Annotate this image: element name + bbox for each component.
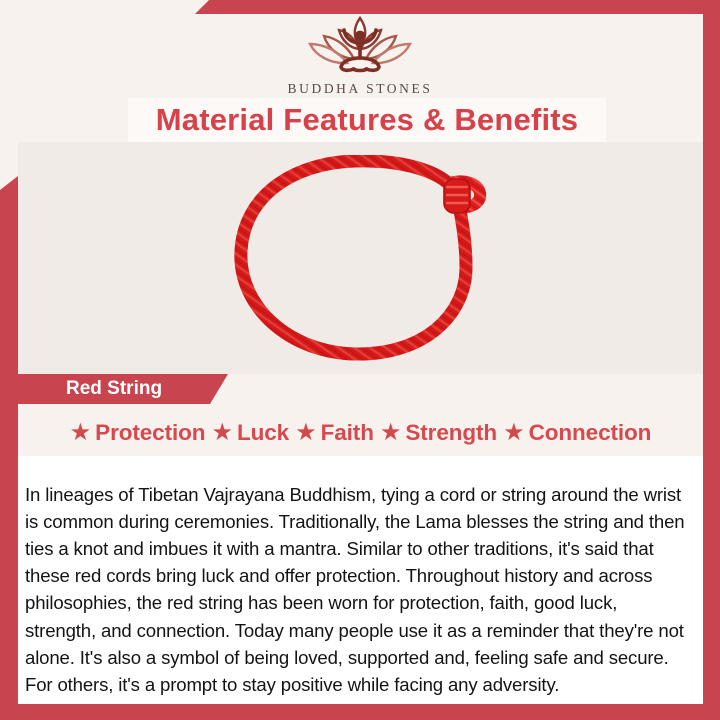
star-icon: ★ [380,421,402,445]
benefit-label: Connection [529,420,652,446]
page-title-band: Material Features & Benefits [128,98,606,142]
benefits-row: ★ Protection ★ Luck ★ Faith ★ Strength ★… [18,410,703,456]
header: BUDDHA STONES Material Features & Benefi… [0,0,720,142]
benefit-item: ★ Strength [380,420,497,446]
star-icon: ★ [503,421,525,445]
star-icon: ★ [70,421,92,445]
benefit-label: Strength [405,420,497,446]
brand-name: BUDDHA STONES [0,81,720,97]
bracelet-knot [444,179,480,213]
red-string-bracelet-image [228,155,494,361]
description-text: In lineages of Tibetan Vajrayana Buddhis… [25,481,687,699]
product-label-banner: Red String [18,374,228,404]
frame-bottom-bar [0,704,720,720]
product-label: Red String [18,378,162,400]
benefit-label: Faith [321,420,374,446]
benefit-item: ★ Protection [70,420,206,446]
page-title: Material Features & Benefits [156,102,579,138]
bracelet-stage [18,142,703,374]
star-icon: ★ [211,421,233,445]
star-icon: ★ [295,421,317,445]
benefit-item: ★ Luck [211,420,289,446]
benefit-item: ★ Faith [295,420,374,446]
benefit-item: ★ Connection [503,420,651,446]
benefit-label: Luck [237,420,289,446]
benefit-label: Protection [95,420,205,446]
bracelet-cord-shade [240,161,465,354]
frame-left-bar [0,176,18,720]
product-image-panel [18,142,703,374]
lotus-meditation-icon [301,14,419,78]
description-panel: In lineages of Tibetan Vajrayana Buddhis… [18,456,703,704]
infographic-page: BUDDHA STONES Material Features & Benefi… [0,0,720,720]
brand-logo: BUDDHA STONES [0,14,720,97]
